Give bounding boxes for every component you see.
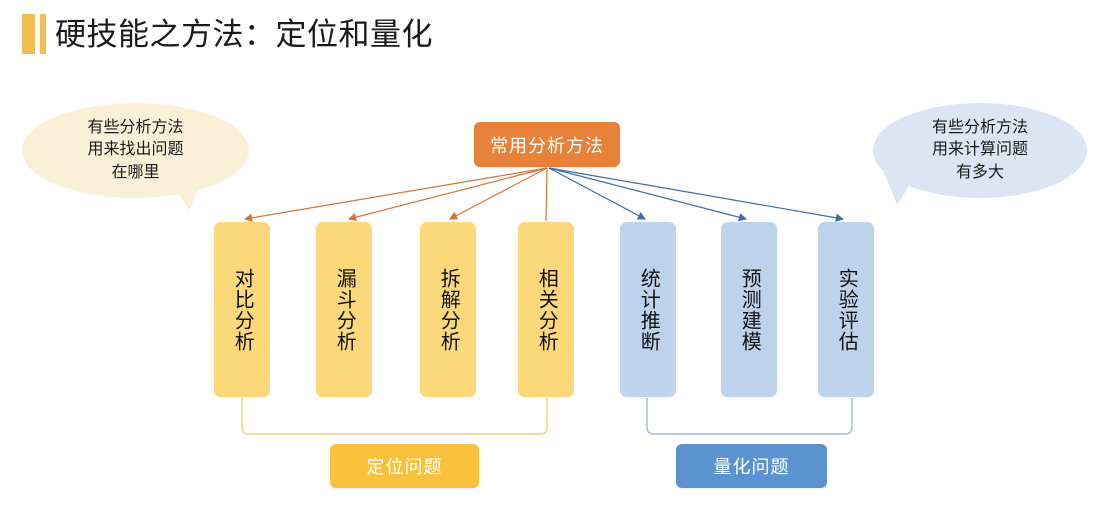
bubble-left-line-1: 有些分析方法 bbox=[87, 117, 183, 139]
arrow-to-tongji bbox=[549, 168, 645, 219]
method-box-duibi-fenxi[interactable]: 对比分析 bbox=[214, 222, 270, 397]
arrow-to-loudou bbox=[349, 168, 547, 219]
method-box-yuce-jianmo[interactable]: 预测建模 bbox=[721, 222, 777, 397]
arrow-to-chaijie bbox=[450, 168, 547, 219]
bubble-right-line-3: 有多大 bbox=[932, 162, 1028, 184]
method-box-xiangguan-fenxi[interactable]: 相关分析 bbox=[518, 222, 574, 397]
arrow-to-shiyan bbox=[549, 168, 843, 219]
bubble-right-text: 有些分析方法 用来计算问题 有多大 bbox=[932, 117, 1028, 183]
accent-bar-wide bbox=[22, 14, 35, 54]
bracket-locate-group bbox=[242, 398, 547, 434]
arrows-quantify-group bbox=[549, 168, 843, 219]
arrows-locate-group bbox=[245, 168, 547, 221]
bubble-quantify-explanation: 有些分析方法 用来计算问题 有多大 bbox=[873, 103, 1087, 198]
bubble-locate-explanation: 有些分析方法 用来找出问题 在哪里 bbox=[22, 103, 249, 198]
method-box-shiyan-pinggu[interactable]: 实验评估 bbox=[818, 222, 874, 397]
bubble-right-line-2: 用来计算问题 bbox=[932, 139, 1028, 161]
arrow-to-yuce bbox=[549, 168, 746, 219]
method-box-loudou-fenxi[interactable]: 漏斗分析 bbox=[316, 222, 372, 397]
bracket-quantify-group bbox=[647, 398, 852, 434]
group-label-locate-problem[interactable]: 定位问题 bbox=[330, 444, 479, 488]
arrow-to-xiangguan bbox=[546, 168, 547, 221]
group-label-quantify-problem[interactable]: 量化问题 bbox=[676, 444, 827, 488]
bubble-right-line-1: 有些分析方法 bbox=[932, 117, 1028, 139]
bubble-left-text: 有些分析方法 用来找出问题 在哪里 bbox=[87, 117, 183, 183]
page-title: 硬技能之方法：定位和量化 bbox=[55, 14, 433, 56]
bubble-left-line-2: 用来找出问题 bbox=[87, 139, 183, 161]
root-node-common-analysis-methods[interactable]: 常用分析方法 bbox=[474, 122, 620, 167]
slide-canvas: 硬技能之方法：定位和量化 bbox=[0, 0, 1102, 515]
method-box-chaijie-fenxi[interactable]: 拆解分析 bbox=[420, 222, 476, 397]
method-box-tongji-tuiduan[interactable]: 统计推断 bbox=[620, 222, 676, 397]
accent-bar-narrow bbox=[40, 14, 46, 54]
arrow-to-duibi bbox=[245, 168, 547, 219]
title-accent-bars bbox=[22, 14, 46, 54]
bubble-left-line-3: 在哪里 bbox=[87, 162, 183, 184]
